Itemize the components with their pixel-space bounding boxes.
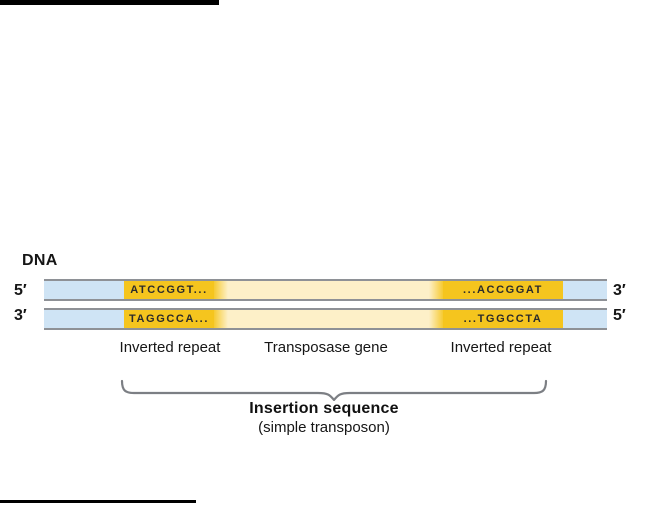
end-label-bottom-left: 3′: [14, 307, 27, 325]
sequence-left-repeat-bottom: TAGGCCA...: [129, 313, 209, 325]
sequence-right-repeat-top: ...ACCGGAT: [463, 284, 543, 296]
dna-duplex: ATCCGGT... ...ACCGGAT TAGGCCA... ...TGGC…: [44, 279, 607, 334]
insertion-sequence-summary: Insertion sequence (simple transposon): [0, 400, 648, 436]
dna-strand-top: ATCCGGT... ...ACCGGAT: [44, 279, 607, 301]
dna-label: DNA: [22, 252, 58, 270]
end-label-bottom-right: 5′: [613, 307, 626, 325]
sequence-left-repeat-top: ATCCGGT...: [130, 284, 208, 296]
end-label-top-left: 5′: [14, 282, 27, 300]
inverted-repeat-right-bottom: ...TGGCCTA: [443, 310, 563, 328]
summary-title: Insertion sequence: [0, 400, 648, 418]
inverted-repeat-right-top: ...ACCGGAT: [443, 281, 563, 299]
label-inverted-repeat-left: Inverted repeat: [118, 339, 222, 357]
dna-strand-bottom: TAGGCCA... ...TGGCCTA: [44, 308, 607, 330]
inverted-repeat-left-bottom: TAGGCCA...: [124, 310, 214, 328]
label-inverted-repeat-right: Inverted repeat: [440, 339, 562, 357]
inverted-repeat-left-top: ATCCGGT...: [124, 281, 214, 299]
summary-subtitle: (simple transposon): [0, 419, 648, 436]
sequence-right-repeat-bottom: ...TGGCCTA: [464, 313, 543, 325]
insertion-sequence-brace: [120, 379, 548, 401]
scan-artifact-top-bar: [0, 0, 219, 5]
label-transposase-gene: Transposase gene: [228, 339, 424, 357]
scan-artifact-bottom-bar: [0, 500, 196, 503]
end-label-top-right: 3′: [613, 282, 626, 300]
